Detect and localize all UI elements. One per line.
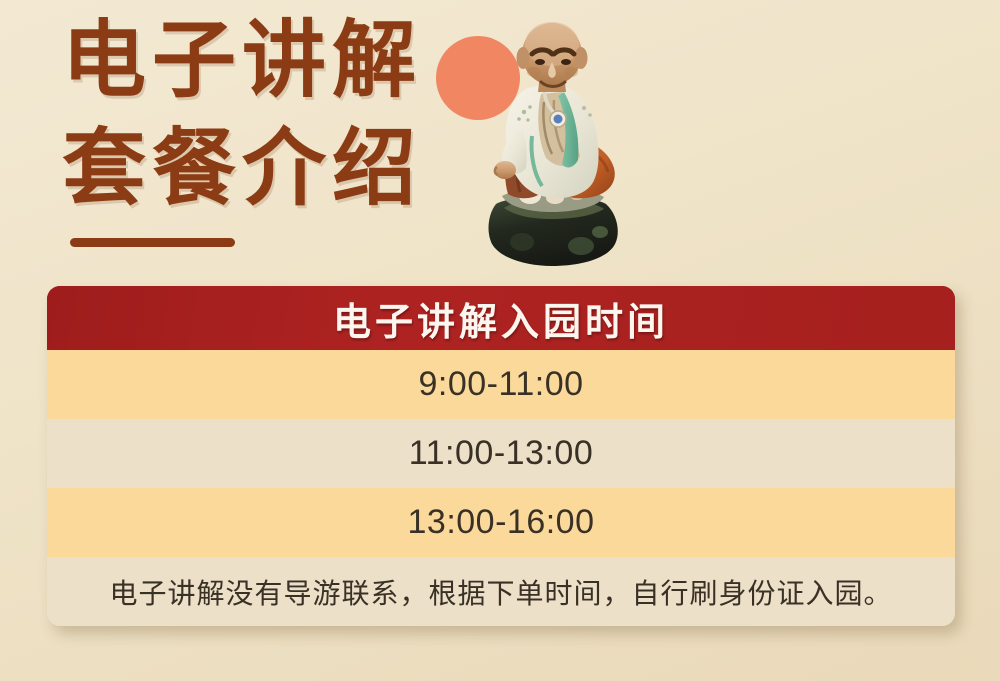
time-slot-row: 11:00-13:00 <box>47 419 955 488</box>
time-slot-value: 13:00-16:00 <box>408 503 595 542</box>
card-footnote: 电子讲解没有导游联系，根据下单时间，自行刷身份证入园。 <box>47 557 955 626</box>
hero-section: 电子讲解 套餐介绍 <box>0 0 1000 278</box>
entry-time-card: 电子讲解入园时间 9:00-11:00 11:00-13:00 13:00-16… <box>47 286 955 626</box>
poster-page: 电子讲解 套餐介绍 <box>0 0 1000 681</box>
card-header: 电子讲解入园时间 <box>47 286 955 350</box>
card-header-title: 电子讲解入园时间 <box>333 291 669 346</box>
title-underline-decoration <box>70 238 235 247</box>
card-footnote-text: 电子讲解没有导游联系，根据下单时间，自行刷身份证入园。 <box>109 572 892 612</box>
time-slot-value: 11:00-13:00 <box>409 434 593 473</box>
page-title-line-2: 套餐介绍 <box>62 120 482 216</box>
page-title-line-1: 电子讲解 <box>62 12 482 108</box>
time-slot-value: 9:00-11:00 <box>418 365 583 404</box>
title-block: 电子讲解 套餐介绍 <box>62 8 482 247</box>
luohan-statue-image <box>478 18 626 268</box>
time-slot-row: 13:00-16:00 <box>47 488 955 557</box>
time-slot-row: 9:00-11:00 <box>47 350 955 419</box>
